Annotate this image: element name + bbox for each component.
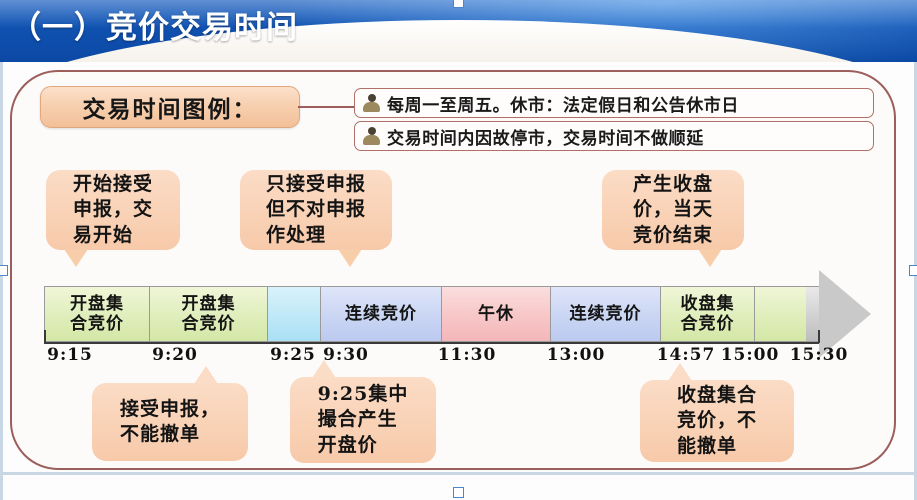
timeline-segment-label: 连续竞价 [570,304,642,324]
person-icon [363,94,380,113]
selection-handle-left[interactable] [0,265,8,276]
timeline-segment-5[interactable]: 午休 [441,286,550,342]
timeline-segment-label: 开盘集 合竞价 [70,294,124,334]
callout-bottom-2[interactable]: 9:25集中 撮合产生 开盘价 [290,377,436,463]
bottom-rail [0,472,917,475]
selection-handle-top[interactable] [453,0,464,8]
person-icon [363,127,380,146]
callout-bottom-1[interactable]: 接受申报， 不能撤单 [92,383,248,461]
timeline-segment-6[interactable]: 连续竞价 [550,286,660,342]
axis-tick-label: 9:20 [152,345,198,365]
callout-top-3[interactable]: 产生收盘 价，当天 竞价结束 [602,170,744,250]
axis-tick-label: 15:30 [790,345,849,365]
callout-top-2[interactable]: 只接受申报 但不对申报 作处理 [240,170,392,250]
legend-label: 交易时间图例： [83,90,258,124]
notice-text-1: 每周一至周五。休市：法定假日和公告休市日 [387,91,739,116]
timeline-segment-4[interactable]: 连续竞价 [320,286,441,342]
axis-tick-label: 15:00 [721,345,780,365]
timeline-segment-7[interactable]: 收盘集 合竞价 [660,286,754,342]
callout-tail-icon [64,249,88,267]
selection-handle-right[interactable] [909,265,917,276]
axis-tick-label: 9:15 [47,345,93,365]
person-icon-body [363,102,380,112]
left-rail [0,62,3,500]
page-title: （一）竞价交易时间 [10,2,298,47]
timeline-segment-label: 午休 [478,304,514,324]
callout-top-1[interactable]: 开始接受 申报，交 易开始 [46,170,180,250]
timeline-bar: 开盘集 合竞价开盘集 合竞价连续竞价午休连续竞价收盘集 合竞价 [44,286,836,342]
title-banner: （一）竞价交易时间 [0,0,917,62]
legend-pill[interactable]: 交易时间图例： [40,86,300,128]
callout-top-1-text: 开始接受 申报，交 易开始 [73,172,153,247]
callout-top-3-text: 产生收盘 价，当天 竞价结束 [633,172,713,247]
timeline-segment-label: 开盘集 合竞价 [182,294,236,334]
callout-tail-icon [668,363,692,381]
callout-bottom-3-text: 收盘集合 竞价，不 能撤单 [677,383,757,458]
axis-line [44,342,819,344]
notice-text-2: 交易时间内因故停市，交易时间不做顺延 [387,124,704,149]
notice-row-2[interactable]: 交易时间内因故停市，交易时间不做顺延 [354,121,874,151]
callout-tail-icon [338,249,362,267]
axis-cap-right [818,330,820,343]
person-icon-head [368,127,376,135]
timeline-segment-label: 连续竞价 [345,304,417,324]
timeline-segment-2[interactable]: 开盘集 合竞价 [149,286,267,342]
axis-cap-left [44,330,46,343]
callout-tail-icon [312,360,336,378]
selection-handle-bottom[interactable] [453,487,464,498]
notice-row-1[interactable]: 每周一至周五。休市：法定假日和公告休市日 [354,88,874,118]
person-icon-head [368,94,376,102]
timeline-segment-3[interactable] [267,286,320,342]
callout-bottom-3[interactable]: 收盘集合 竞价，不 能撤单 [640,380,794,462]
callout-tail-icon [698,249,722,267]
slide-canvas: （一）竞价交易时间 交易时间图例： 每周一至周五。休市：法定假日和公告休市日 交… [0,0,917,500]
axis-tick-label: 14:57 [657,345,716,365]
callout-top-2-text: 只接受申报 但不对申报 作处理 [266,172,366,247]
axis-tick-label: 11:30 [438,345,497,365]
callout-bottom-2-text: 9:25集中 撮合产生 开盘价 [318,382,409,457]
timeline-segment-1[interactable]: 开盘集 合竞价 [44,286,149,342]
callout-bottom-1-text: 接受申报， 不能撤单 [120,397,220,447]
timeline-segment-label: 收盘集 合竞价 [681,294,735,334]
axis-tick-label: 13:00 [547,345,606,365]
legend-connector-line [298,106,356,108]
axis-tick-label: 9:25 [270,345,316,365]
person-icon-body [363,135,380,145]
callout-tail-icon [194,366,218,384]
